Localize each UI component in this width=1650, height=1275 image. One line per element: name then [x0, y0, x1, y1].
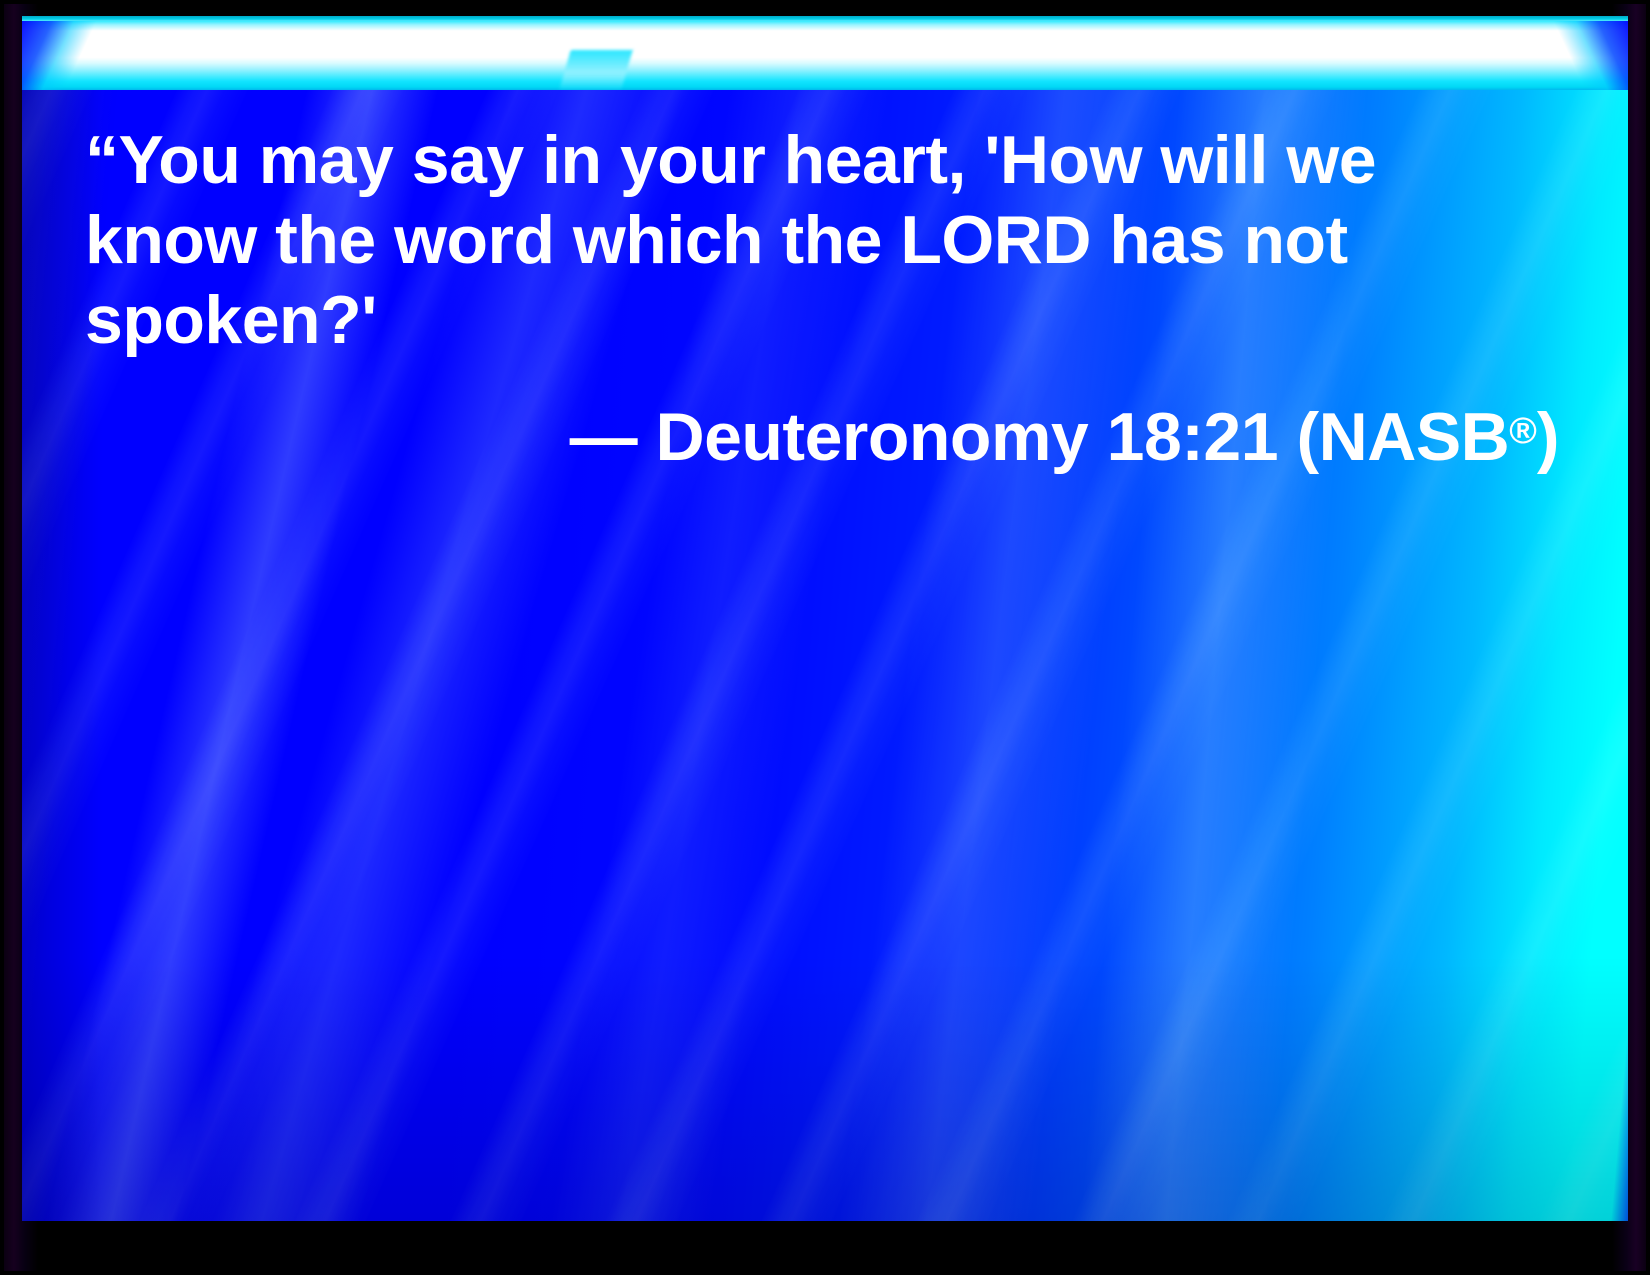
verse-text: “You may say in your heart, 'How will we… — [85, 120, 1565, 360]
slide-canvas: “You may say in your heart, 'How will we… — [22, 16, 1628, 1221]
slide-frame: “You may say in your heart, 'How will we… — [0, 0, 1650, 1275]
verse-attribution: — Deuteronomy 18:21 (NASB®) — [85, 390, 1565, 477]
verse-reference: — Deuteronomy 18:21 (NASB — [570, 399, 1510, 475]
verse-attribution-close-paren: ) — [1537, 399, 1559, 475]
verse-block: “You may say in your heart, 'How will we… — [85, 120, 1565, 477]
registered-trademark-icon: ® — [1509, 409, 1537, 451]
